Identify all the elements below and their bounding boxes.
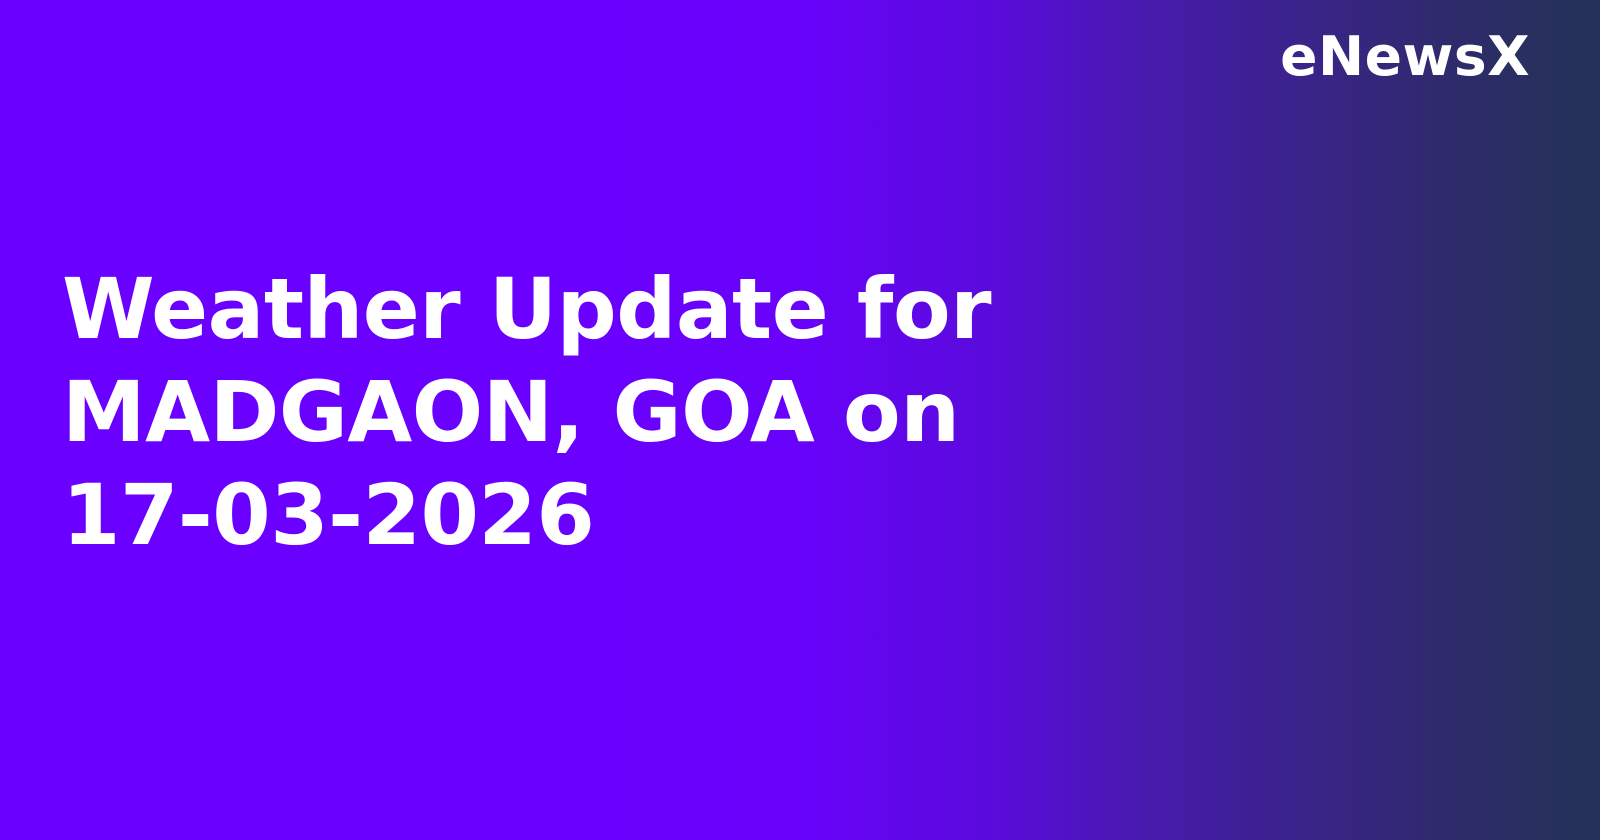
headline-block: Weather Update for MADGAON, GOA on 17-03… bbox=[62, 258, 1062, 567]
page-title: Weather Update for MADGAON, GOA on 17-03… bbox=[62, 258, 1062, 567]
brand-logo-text: eNewsX bbox=[1280, 30, 1530, 84]
news-banner-card: eNewsX Weather Update for MADGAON, GOA o… bbox=[0, 0, 1600, 840]
brand-logo[interactable]: eNewsX bbox=[1285, 30, 1530, 84]
